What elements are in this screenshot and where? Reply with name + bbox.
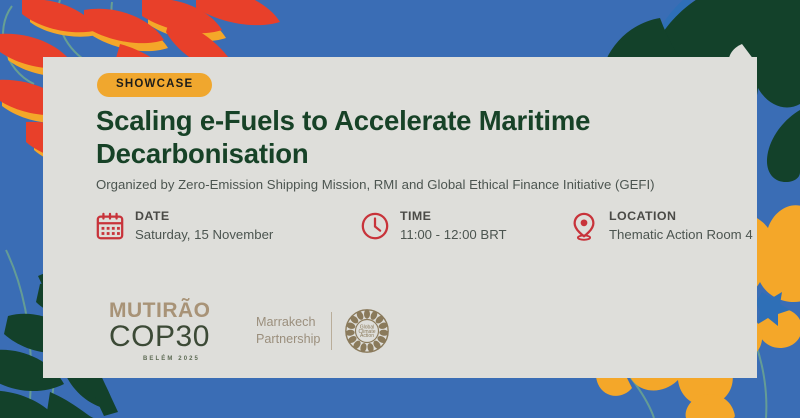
detail-time-label: TIME: [400, 209, 507, 225]
mutirao-wordmark: MUTIRÃO: [109, 300, 234, 321]
event-details-row: DATE Saturday, 15 November TIME 11:00 - …: [95, 209, 755, 259]
detail-location-label: LOCATION: [609, 209, 753, 225]
showcase-badge: SHOWCASE: [97, 73, 212, 97]
detail-date-text: DATE Saturday, 15 November: [135, 209, 273, 243]
belem-2025-subtitle: BELÉM 2025: [109, 356, 234, 362]
detail-location-value: Thematic Action Room 4: [609, 226, 753, 243]
logo-strip: MUTIRÃO COP30 BELÉM 2025 Marrakech Partn…: [109, 300, 390, 362]
logo-divider: [331, 312, 332, 350]
event-card: SHOWCASE Scaling e-Fuels to Accelerate M…: [43, 57, 757, 378]
detail-time: TIME 11:00 - 12:00 BRT: [360, 209, 507, 243]
detail-time-value: 11:00 - 12:00 BRT: [400, 226, 507, 243]
detail-date-label: DATE: [135, 209, 273, 225]
marrakech-line-1: Marrakech: [256, 314, 320, 331]
marrakech-partnership-logo: Marrakech Partnership: [256, 308, 390, 354]
organizer-text: Organized by Zero-Emission Shipping Miss…: [96, 176, 746, 193]
detail-location: LOCATION Thematic Action Room 4: [569, 209, 753, 243]
marrakech-partnership-text: Marrakech Partnership: [256, 314, 331, 347]
cop30-wordmark: COP30: [109, 322, 234, 353]
detail-date-value: Saturday, 15 November: [135, 226, 273, 243]
detail-location-text: LOCATION Thematic Action Room 4: [609, 209, 753, 243]
detail-time-text: TIME 11:00 - 12:00 BRT: [400, 209, 507, 243]
detail-date: DATE Saturday, 15 November: [95, 209, 273, 243]
calendar-icon: [95, 210, 125, 242]
marrakech-line-2: Partnership: [256, 331, 320, 348]
promo-card-canvas: SHOWCASE Scaling e-Fuels to Accelerate M…: [0, 0, 800, 418]
clock-icon: [360, 210, 390, 242]
page-title: Scaling e-Fuels to Accelerate Maritime D…: [96, 105, 716, 170]
location-pin-icon: [569, 210, 599, 242]
mutirao-cop30-logo: MUTIRÃO COP30 BELÉM 2025: [109, 300, 234, 362]
emblem-line-3: Action: [360, 333, 374, 339]
global-climate-action-emblem-icon: Global Climate Action: [344, 308, 390, 354]
